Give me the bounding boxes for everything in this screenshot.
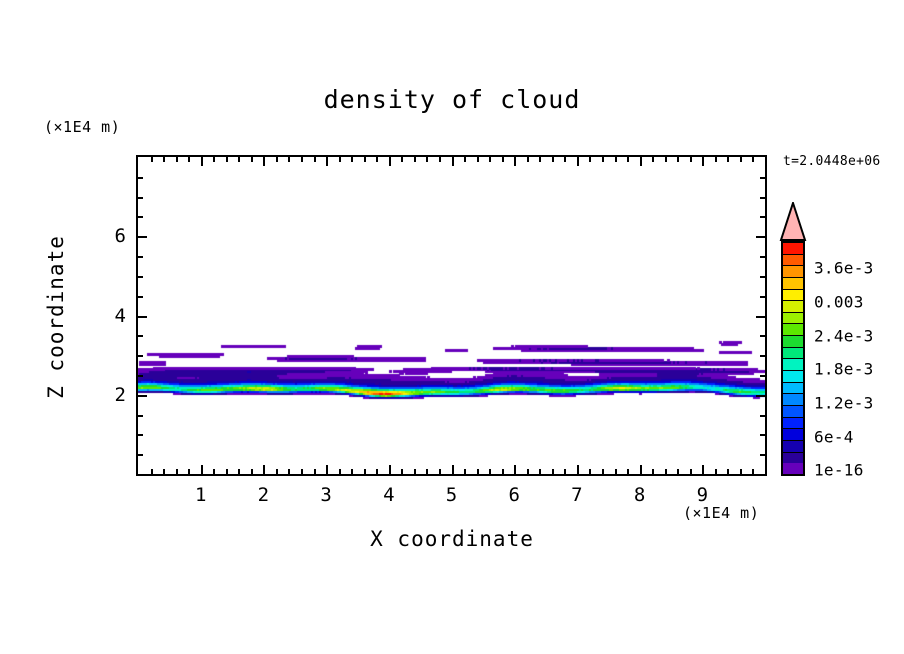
x-tick-label: 3: [320, 484, 331, 506]
colorbar-band: [783, 335, 803, 347]
y-tick: [138, 335, 143, 337]
x-tick-top: [151, 157, 153, 162]
x-tick-top: [226, 157, 228, 162]
x-tick: [376, 469, 378, 474]
x-tick: [527, 469, 529, 474]
x-tick: [401, 469, 403, 474]
x-tick-top: [690, 157, 692, 162]
x-tick: [552, 469, 554, 474]
contour-field: [138, 157, 765, 474]
colorbar-band: [783, 393, 803, 405]
x-tick-top: [539, 157, 541, 162]
colorbar-band: [783, 300, 803, 312]
x-tick: [589, 469, 591, 474]
x-tick-top: [188, 157, 190, 162]
y-tick-right: [760, 434, 765, 436]
y-tick-right: [760, 335, 765, 337]
colorbar-band: [783, 265, 803, 277]
x-tick: [464, 469, 466, 474]
x-tick: [263, 465, 265, 474]
colorbar-band: [783, 289, 803, 301]
y-tick-right: [756, 316, 765, 318]
y-tick-right: [756, 236, 765, 238]
x-tick-top: [301, 157, 303, 162]
x-tick-label: 5: [446, 484, 457, 506]
y-tick: [138, 415, 143, 417]
x-tick: [702, 465, 704, 474]
x-tick: [665, 469, 667, 474]
x-tick: [640, 465, 642, 474]
x-tick-label: 1: [195, 484, 206, 506]
y-tick: [138, 216, 143, 218]
colorbar-band: [783, 347, 803, 359]
x-tick-top: [752, 157, 754, 162]
y-tick-right: [760, 177, 765, 179]
x-tick: [577, 465, 579, 474]
x-tick-label: 8: [634, 484, 645, 506]
x-tick: [414, 469, 416, 474]
x-tick-label: 6: [508, 484, 519, 506]
colorbar-tick-label: 1.8e-3: [814, 360, 874, 379]
x-tick-top: [176, 157, 178, 162]
x-tick: [452, 465, 454, 474]
x-tick-top: [401, 157, 403, 162]
y-tick: [138, 395, 147, 397]
x-tick-top: [339, 157, 341, 162]
y-tick-right: [760, 276, 765, 278]
x-tick: [288, 469, 290, 474]
x-tick-top: [552, 157, 554, 162]
x-tick: [301, 469, 303, 474]
x-tick-top: [364, 157, 366, 162]
x-tick: [163, 469, 165, 474]
y-tick-right: [760, 256, 765, 258]
colorbar-tick-label: 6e-4: [814, 427, 854, 446]
colorbar-band: [783, 440, 803, 452]
colorbar-tick-label: 1e-16: [814, 461, 864, 480]
x-tick-top: [489, 157, 491, 162]
colorbar-band: [783, 370, 803, 382]
x-tick: [727, 469, 729, 474]
y-tick: [138, 355, 143, 357]
x-tick-label: 7: [571, 484, 582, 506]
x-tick: [489, 469, 491, 474]
x-tick-top: [727, 157, 729, 162]
x-tick-top: [326, 157, 328, 166]
x-tick-top: [527, 157, 529, 162]
y-axis-unit-label: (×1E4 m): [44, 118, 120, 136]
y-tick: [138, 375, 143, 377]
x-tick-top: [665, 157, 667, 162]
y-tick: [138, 454, 143, 456]
time-annotation: t=2.0448e+06: [783, 154, 881, 169]
colorbar-tick-label: 0.003: [814, 292, 864, 311]
x-tick: [188, 469, 190, 474]
x-tick-top: [376, 157, 378, 162]
x-tick-top: [514, 157, 516, 166]
y-tick-right: [760, 375, 765, 377]
x-tick-label: 2: [258, 484, 269, 506]
colorbar-band: [783, 405, 803, 417]
x-tick: [314, 469, 316, 474]
x-tick-top: [615, 157, 617, 162]
x-tick: [752, 469, 754, 474]
x-tick: [564, 469, 566, 474]
x-tick-top: [414, 157, 416, 162]
y-tick-right: [756, 395, 765, 397]
x-tick-top: [263, 157, 265, 166]
x-tick: [251, 469, 253, 474]
x-tick: [151, 469, 153, 474]
colorbar-band: [783, 242, 803, 254]
x-tick-top: [589, 157, 591, 162]
x-tick: [276, 469, 278, 474]
x-tick-top: [502, 157, 504, 162]
page-title: density of cloud: [0, 85, 904, 114]
x-tick-top: [577, 157, 579, 166]
x-tick: [364, 469, 366, 474]
x-tick-label: 4: [383, 484, 394, 506]
x-tick: [740, 469, 742, 474]
x-tick-top: [351, 157, 353, 162]
x-tick: [439, 469, 441, 474]
colorbar-band: [783, 358, 803, 370]
x-tick: [690, 469, 692, 474]
x-tick-top: [652, 157, 654, 162]
x-tick-top: [213, 157, 215, 162]
colorbar-band: [783, 277, 803, 289]
x-tick: [226, 469, 228, 474]
x-tick-top: [251, 157, 253, 162]
x-tick-top: [477, 157, 479, 162]
x-tick: [539, 469, 541, 474]
x-tick: [339, 469, 341, 474]
plot-area: [136, 155, 767, 476]
x-tick-top: [702, 157, 704, 166]
colorbar-band: [783, 382, 803, 394]
y-tick: [138, 296, 143, 298]
x-tick: [602, 469, 604, 474]
x-tick-top: [602, 157, 604, 162]
x-axis-title: X coordinate: [0, 527, 904, 551]
x-tick: [351, 469, 353, 474]
y-tick-label: 2: [104, 384, 126, 406]
x-tick-top: [640, 157, 642, 166]
x-tick: [201, 465, 203, 474]
x-tick: [677, 469, 679, 474]
colorbar-band: [783, 312, 803, 324]
y-tick: [138, 256, 143, 258]
colorbar-band: [783, 323, 803, 335]
colorbar-tick-label: 1.2e-3: [814, 393, 874, 412]
x-tick: [652, 469, 654, 474]
colorbar-band: [783, 428, 803, 440]
x-tick-top: [201, 157, 203, 166]
colorbar-over-arrow-icon: [779, 202, 807, 241]
x-tick-top: [452, 157, 454, 166]
y-tick: [138, 197, 143, 199]
colorbar-band: [783, 452, 803, 464]
x-tick: [477, 469, 479, 474]
y-tick-right: [760, 296, 765, 298]
x-tick-top: [276, 157, 278, 162]
colorbar-tick-label: 2.4e-3: [814, 326, 874, 345]
x-axis-unit-label: (×1E4 m): [683, 504, 759, 522]
x-tick-top: [163, 157, 165, 162]
colorbar-band: [783, 463, 803, 474]
x-tick-top: [564, 157, 566, 162]
x-tick-top: [439, 157, 441, 162]
colorbar: [781, 240, 805, 476]
x-tick-top: [288, 157, 290, 162]
y-tick-right: [760, 216, 765, 218]
y-tick: [138, 434, 143, 436]
y-axis-title: Z coordinate: [44, 217, 68, 417]
y-tick: [138, 276, 143, 278]
y-tick: [138, 236, 147, 238]
y-tick-label: 4: [104, 305, 126, 327]
x-tick: [238, 469, 240, 474]
x-tick-top: [715, 157, 717, 162]
x-tick: [213, 469, 215, 474]
y-tick-right: [760, 415, 765, 417]
x-tick-top: [677, 157, 679, 162]
x-tick-top: [426, 157, 428, 162]
x-tick: [615, 469, 617, 474]
x-tick-top: [464, 157, 466, 162]
y-tick-label: 6: [104, 225, 126, 247]
colorbar-band: [783, 417, 803, 429]
x-tick: [502, 469, 504, 474]
colorbar-tick-label: 3.6e-3: [814, 259, 874, 278]
x-tick: [426, 469, 428, 474]
x-tick: [326, 465, 328, 474]
x-tick: [389, 465, 391, 474]
colorbar-band: [783, 254, 803, 266]
y-tick-right: [760, 197, 765, 199]
y-tick-right: [760, 454, 765, 456]
x-tick-top: [389, 157, 391, 166]
x-tick: [627, 469, 629, 474]
x-tick-top: [238, 157, 240, 162]
x-tick-label: 9: [697, 484, 708, 506]
x-tick-top: [740, 157, 742, 162]
y-tick: [138, 316, 147, 318]
x-tick-top: [627, 157, 629, 162]
x-tick-top: [314, 157, 316, 162]
x-tick: [514, 465, 516, 474]
y-tick-right: [760, 355, 765, 357]
x-tick: [176, 469, 178, 474]
y-tick: [138, 177, 143, 179]
x-tick: [715, 469, 717, 474]
